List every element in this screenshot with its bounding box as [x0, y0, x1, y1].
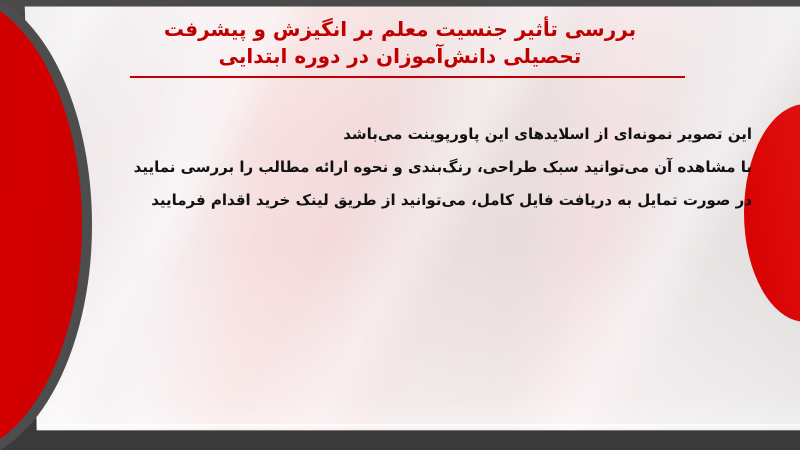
slide-body-line-2: با مشاهده آن می‌توانید سبک طراحی، رنگ‌بن…	[92, 151, 752, 184]
slide-title: بررسی تأثیر جنسیت معلم بر انگیزش و پیشرف…	[60, 16, 740, 70]
slide-canvas: بررسی تأثیر جنسیت معلم بر انگیزش و پیشرف…	[0, 0, 800, 450]
slide-title-line-1: بررسی تأثیر جنسیت معلم بر انگیزش و پیشرف…	[60, 16, 740, 43]
slide-body-line-3: در صورت تمایل به دریافت فایل کامل، می‌تو…	[92, 184, 752, 217]
title-underline-rule	[130, 76, 685, 78]
slide-body: این تصویر نمونه‌ای از اسلایدهای این پاور…	[92, 118, 752, 217]
slide-title-line-2: تحصیلی دانش‌آموزان در دوره ابتدایی	[60, 43, 740, 70]
slide-body-line-1: این تصویر نمونه‌ای از اسلایدهای این پاور…	[92, 118, 752, 151]
